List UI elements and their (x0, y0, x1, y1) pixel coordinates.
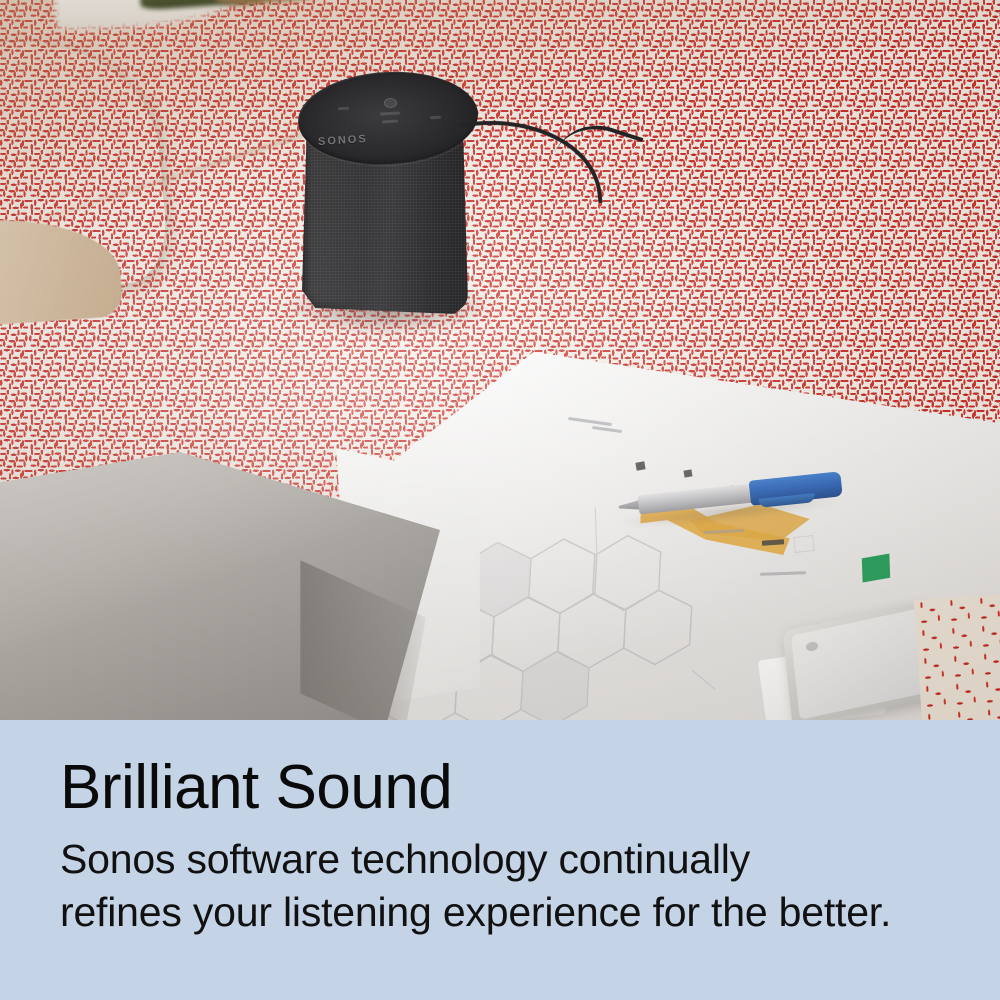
tablecloth-corner-bottom-right (914, 592, 1000, 720)
plan-green-marker (862, 553, 890, 582)
caption-panel: Brilliant Sound Sonos software technolog… (0, 720, 1000, 1000)
volume-down-icon[interactable] (338, 107, 349, 111)
product-lifestyle-photo: SONOS (0, 0, 1000, 720)
plan-symbol (793, 535, 815, 553)
headline: Brilliant Sound (60, 756, 940, 819)
volume-up-icon[interactable] (430, 116, 441, 120)
sonos-brilliant-sound-card: SONOS Brilliant Sound Sonos software tec… (0, 0, 1000, 1000)
play-pause-icon[interactable] (384, 98, 397, 108)
body-copy-line-2: refines your listening experience for th… (60, 889, 891, 935)
plan-symbol (635, 461, 645, 470)
body-copy-line-1: Sonos software technology continually (60, 836, 750, 882)
body-copy: Sonos software technology continually re… (60, 833, 940, 938)
sonos-speaker: SONOS (296, 72, 480, 322)
plan-symbol (683, 469, 692, 477)
